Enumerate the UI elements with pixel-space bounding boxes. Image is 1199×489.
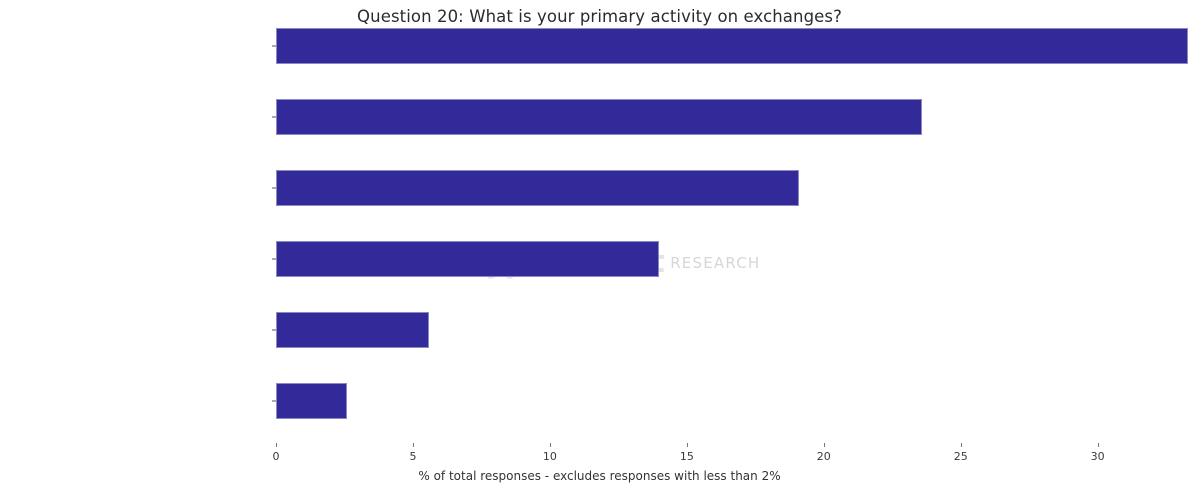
x-axis-label: % of total responses - excludes response… xyxy=(0,469,1199,483)
bar[interactable] xyxy=(276,99,922,135)
x-axis-tick-label: 30 xyxy=(1091,450,1105,463)
bar[interactable] xyxy=(276,241,659,277)
bar[interactable] xyxy=(276,383,347,419)
bar[interactable] xyxy=(276,170,799,206)
x-axis-tick-label: 20 xyxy=(817,450,831,463)
x-axis-tick-label: 25 xyxy=(954,450,968,463)
x-axis-tick-label: 10 xyxy=(543,450,557,463)
chart-figure: Question 20: What is your primary activi… xyxy=(0,0,1199,489)
x-axis-tick-mark xyxy=(961,443,962,447)
bar[interactable] xyxy=(276,28,1188,64)
x-axis-tick-label: 0 xyxy=(273,450,280,463)
x-axis-tick-mark xyxy=(1098,443,1099,447)
plot-area: Only spot trading; I avoid derivativesMa… xyxy=(276,32,1199,443)
x-axis-tick-mark xyxy=(276,443,277,447)
chart-title: Question 20: What is your primary activi… xyxy=(0,7,1199,26)
x-axis-tick-mark xyxy=(550,443,551,447)
x-axis-tick-mark xyxy=(413,443,414,447)
x-axis-tick-mark xyxy=(824,443,825,447)
x-axis-tick-label: 5 xyxy=(409,450,416,463)
x-axis-tick-label: 15 xyxy=(680,450,694,463)
x-axis-tick-mark xyxy=(687,443,688,447)
bar[interactable] xyxy=(276,312,429,348)
